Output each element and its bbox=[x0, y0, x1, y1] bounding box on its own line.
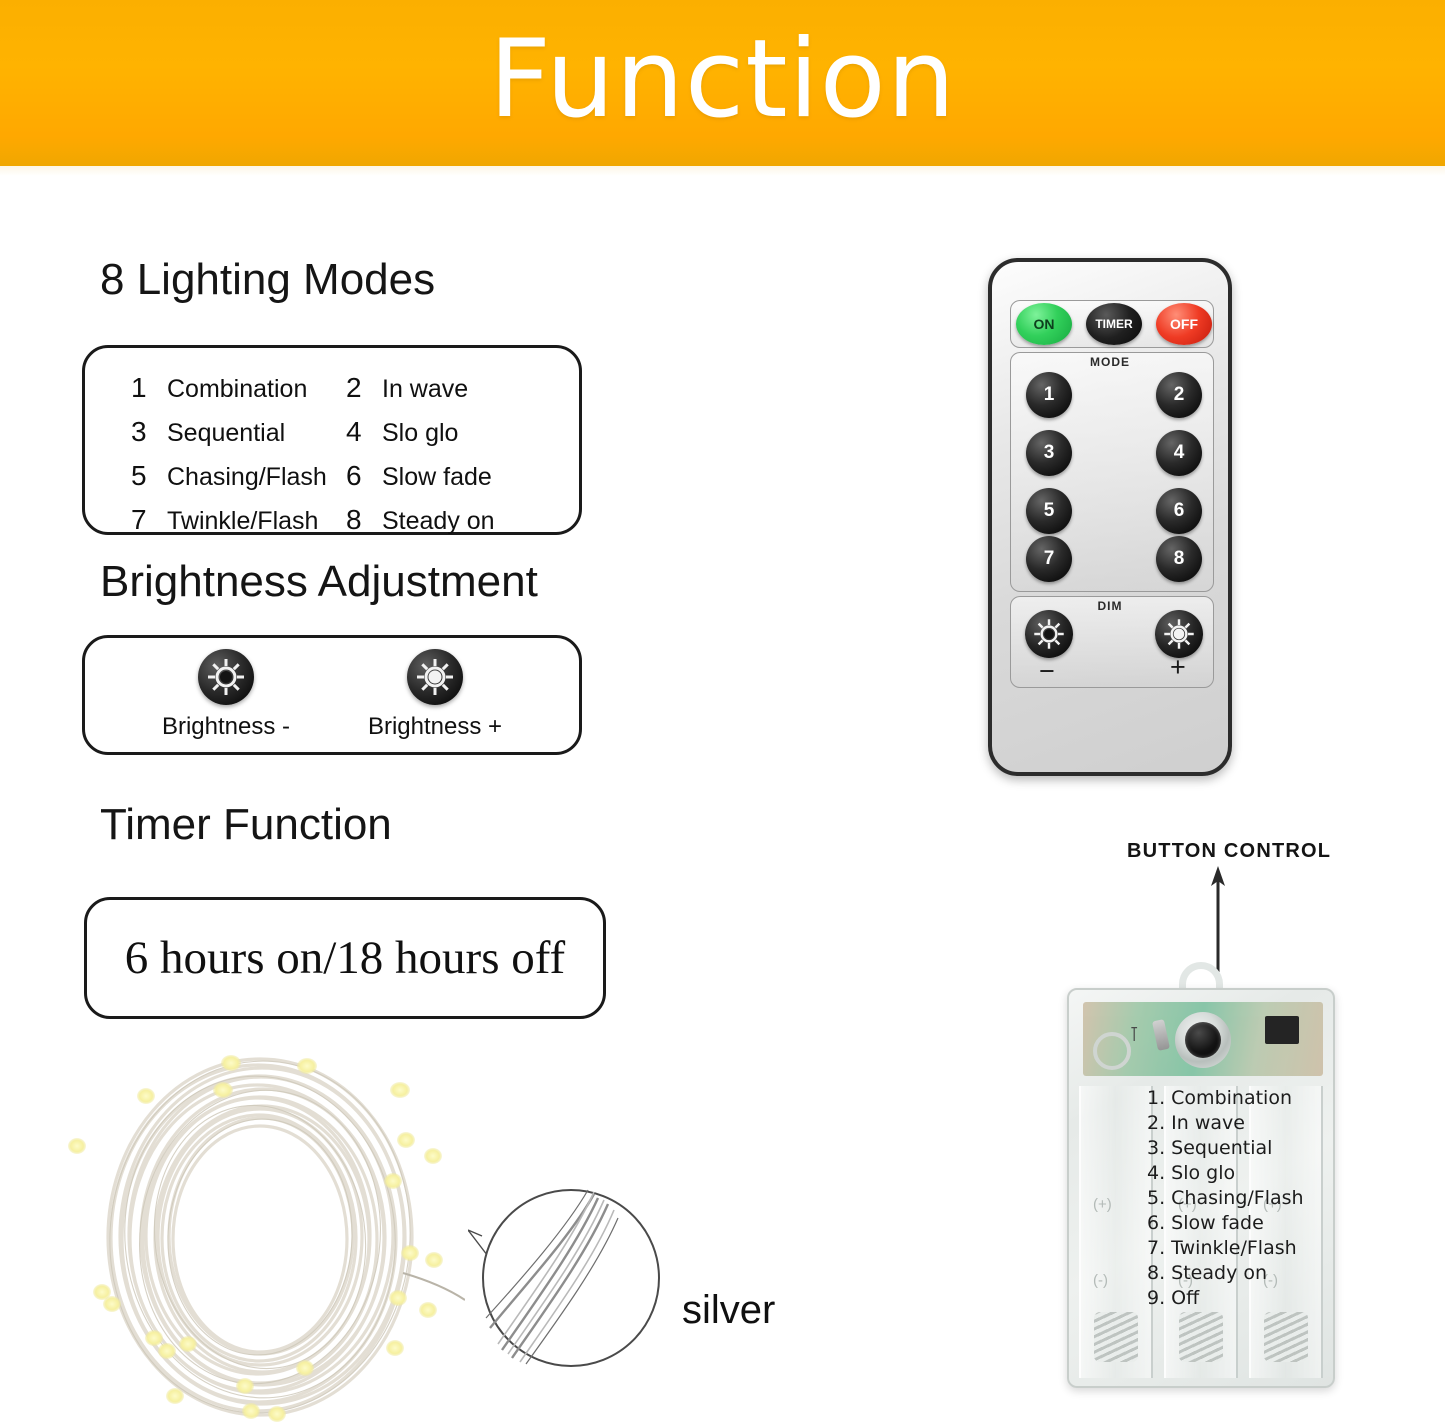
battery-mode-line: 4. Slo glo bbox=[1147, 1161, 1335, 1186]
timer-function-heading: Timer Function bbox=[100, 800, 392, 850]
mode-label: Slo glo bbox=[382, 419, 458, 448]
remote-timer-button[interactable]: TIMER bbox=[1086, 303, 1142, 345]
battery-mode-line: 7. Twinkle/Flash bbox=[1147, 1236, 1335, 1261]
remote-mode-button-7[interactable]: 7 bbox=[1026, 536, 1072, 582]
battery-slot-1: (+) (-) bbox=[1079, 1086, 1153, 1378]
mode-number: 7 bbox=[131, 504, 167, 536]
mode-item-8: 8 Steady on bbox=[346, 504, 601, 536]
battery-box-mode-list: 1. Combination 2. In wave 3. Sequential … bbox=[1147, 1086, 1335, 1311]
mode-label: Steady on bbox=[382, 507, 495, 536]
lighting-modes-grid: 1 Combination 2 In wave 3 Sequential 4 S… bbox=[131, 366, 601, 542]
brightness-plus-label: Brightness + bbox=[368, 713, 502, 741]
mode-number: 2 bbox=[346, 372, 382, 404]
mode-label: Sequential bbox=[167, 419, 285, 448]
remote-dim-section-label: DIM bbox=[992, 599, 1228, 613]
mode-number: 8 bbox=[346, 504, 382, 536]
timer-function-box: 6 hours on/18 hours off bbox=[84, 897, 606, 1019]
brightness-plus-item: Brightness + bbox=[368, 649, 502, 741]
button-control-label: BUTTON CONTROL bbox=[1127, 840, 1331, 863]
remote-mode-button-2[interactable]: 2 bbox=[1156, 372, 1202, 418]
battery-spring bbox=[1264, 1312, 1308, 1362]
pcb-chip-icon bbox=[1265, 1016, 1299, 1044]
brightness-down-icon bbox=[198, 649, 254, 705]
battery-box: ⊺ (+) (-) (+) (-) (+) (-) 1. Combination… bbox=[1067, 988, 1335, 1388]
brightness-minus-label: Brightness - bbox=[162, 713, 290, 741]
mode-item-6: 6 Slow fade bbox=[346, 460, 601, 492]
lighting-modes-heading: 8 Lighting Modes bbox=[100, 255, 435, 305]
remote-dim-up-button[interactable] bbox=[1155, 610, 1203, 658]
remote-off-button[interactable]: OFF bbox=[1156, 303, 1212, 345]
mode-item-3: 3 Sequential bbox=[131, 416, 346, 448]
remote-mode-button-6[interactable]: 6 bbox=[1156, 488, 1202, 534]
battery-mode-line: 5. Chasing/Flash bbox=[1147, 1186, 1335, 1211]
remote-mode-section-label: MODE bbox=[992, 355, 1228, 369]
mode-number: 5 bbox=[131, 460, 167, 492]
pcb-resistor-icon bbox=[1152, 1019, 1170, 1051]
mode-number: 1 bbox=[131, 372, 167, 404]
mode-item-7: 7 Twinkle/Flash bbox=[131, 504, 346, 536]
mode-label: Combination bbox=[167, 375, 307, 404]
remote-mode-button-4[interactable]: 4 bbox=[1156, 430, 1202, 476]
dim-minus-sign: − bbox=[1039, 658, 1055, 685]
remote-mode-button-3[interactable]: 3 bbox=[1026, 430, 1072, 476]
brightness-adjustment-heading: Brightness Adjustment bbox=[100, 557, 538, 607]
brightness-minus-item: Brightness - bbox=[162, 649, 290, 741]
brightness-up-icon bbox=[407, 649, 463, 705]
battery-box-mode-button[interactable] bbox=[1175, 1012, 1231, 1068]
mode-item-5: 5 Chasing/Flash bbox=[131, 460, 346, 492]
brightness-row: Brightness - bbox=[85, 638, 579, 752]
mode-item-4: 4 Slo glo bbox=[346, 416, 601, 448]
page-title: Function bbox=[489, 26, 956, 134]
mode-label: Slow fade bbox=[382, 463, 492, 492]
battery-box-mode-button-inner bbox=[1185, 1022, 1221, 1058]
remote-mode-button-1[interactable]: 1 bbox=[1026, 372, 1072, 418]
remote-mode-button-8[interactable]: 8 bbox=[1156, 536, 1202, 582]
header-banner: Function bbox=[0, 0, 1445, 166]
battery-mode-line: 3. Sequential bbox=[1147, 1136, 1335, 1161]
polarity-mark: (+) bbox=[1093, 1196, 1112, 1213]
lighting-modes-box: 1 Combination 2 In wave 3 Sequential 4 S… bbox=[82, 345, 582, 535]
timer-value: 6 hours on/18 hours off bbox=[87, 900, 603, 1016]
pcb-coil-icon bbox=[1093, 1032, 1131, 1070]
remote-dim-down-button[interactable] bbox=[1025, 610, 1073, 658]
silver-wire-label: silver bbox=[682, 1288, 775, 1333]
mode-number: 3 bbox=[131, 416, 167, 448]
battery-mode-line: 1. Combination bbox=[1147, 1086, 1335, 1111]
mode-label: Chasing/Flash bbox=[167, 463, 327, 492]
sun-dim-down-icon bbox=[1031, 616, 1067, 652]
brightness-adjustment-box: Brightness - bbox=[82, 635, 582, 755]
banner-fade-divider bbox=[0, 166, 1445, 176]
battery-mode-line: 2. In wave bbox=[1147, 1111, 1335, 1136]
mode-item-2: 2 In wave bbox=[346, 372, 601, 404]
mode-label: Twinkle/Flash bbox=[167, 507, 318, 536]
battery-spring bbox=[1179, 1312, 1223, 1362]
dim-plus-sign: + bbox=[1170, 654, 1186, 681]
sun-dim-up-icon bbox=[1161, 616, 1197, 652]
battery-mode-line: 6. Slow fade bbox=[1147, 1211, 1335, 1236]
remote-control: ON TIMER OFF MODE DIM 1 2 3 4 5 6 7 8 bbox=[988, 258, 1232, 776]
remote-on-button[interactable]: ON bbox=[1016, 303, 1072, 345]
mode-number: 6 bbox=[346, 460, 382, 492]
string-light-coil bbox=[55, 1048, 465, 1426]
wire-magnifier-callout bbox=[468, 1178, 668, 1378]
battery-mode-line: 9. Off bbox=[1147, 1286, 1335, 1311]
pcb-marking-icon: ⊺ bbox=[1129, 1022, 1139, 1047]
mode-item-1: 1 Combination bbox=[131, 372, 346, 404]
battery-mode-line: 8. Steady on bbox=[1147, 1261, 1335, 1286]
battery-spring bbox=[1094, 1312, 1138, 1362]
mode-label: In wave bbox=[382, 375, 468, 404]
remote-mode-button-5[interactable]: 5 bbox=[1026, 488, 1072, 534]
mode-number: 4 bbox=[346, 416, 382, 448]
polarity-mark: (-) bbox=[1093, 1272, 1108, 1289]
